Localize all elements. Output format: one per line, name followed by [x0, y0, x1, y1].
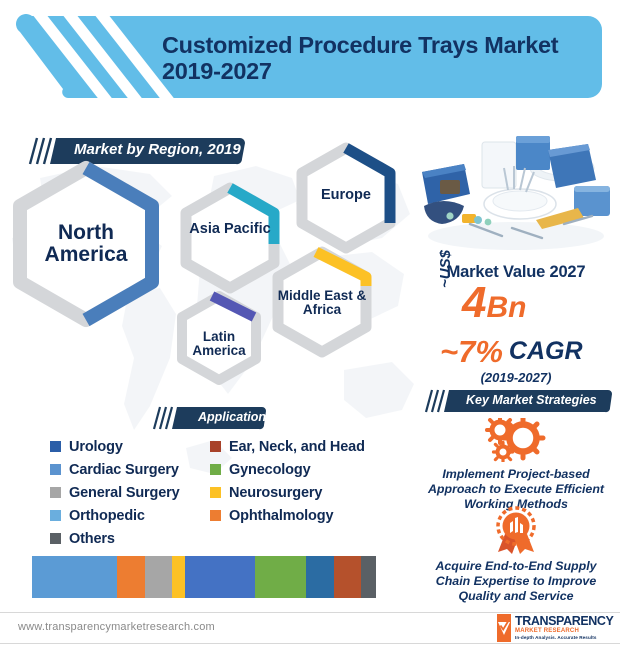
- footer-divider-top: [0, 612, 620, 613]
- bar-segment-general-surgery: [145, 556, 171, 598]
- legend-item: Neurosurgery: [210, 481, 365, 504]
- strategy-item-1: Implement Project-based Approach to Exec…: [416, 418, 616, 512]
- key-market-strategies-ribbon: Key Market Strategies: [424, 388, 616, 412]
- cagr-period: (2019-2027): [416, 370, 616, 385]
- logo-line-1: TRANSPARENCY: [515, 615, 613, 628]
- legend-label-cardiac-surgery: Cardiac Surgery: [69, 462, 179, 478]
- hex-north-america: [20, 168, 152, 320]
- application-ribbon-label: Application: [182, 405, 280, 429]
- application-ribbon: Application: [152, 405, 270, 429]
- market-value-currency: ~US$: [437, 250, 454, 288]
- page-title-line1: Customized Procedure Trays Market: [162, 32, 592, 58]
- footer-divider-bottom: [0, 643, 620, 644]
- legend-label-general-surgery: General Surgery: [69, 485, 180, 501]
- logo-line-3: In-depth Analysis. Accurate Results: [515, 635, 613, 641]
- legend-item: Ophthalmology: [210, 504, 365, 527]
- key-market-strategies-ribbon-label: Key Market Strategies: [450, 388, 611, 412]
- legend-item: Gynecology: [210, 458, 365, 481]
- legend-item: Cardiac Surgery: [50, 458, 180, 481]
- award-ribbon-icon: [489, 506, 543, 554]
- legend-swatch-others: [50, 533, 61, 544]
- legend-label-neurosurgery: Neurosurgery: [229, 485, 322, 501]
- hex-latin-america: [182, 296, 256, 380]
- header-banner: Customized Procedure Trays Market 2019-2…: [14, 10, 606, 107]
- bar-segment-others: [361, 556, 376, 598]
- legend-swatch-general-surgery: [50, 487, 61, 498]
- legend-item: Urology: [50, 435, 180, 458]
- legend-swatch-orthopedic: [50, 510, 61, 521]
- cagr-label: CAGR: [509, 339, 583, 364]
- cagr-value: ~7%: [440, 336, 503, 367]
- procedure-trays-photo: [416, 128, 616, 256]
- bar-segment-orthopedic: [32, 556, 117, 598]
- legend-swatch-ophthalmology: [210, 510, 221, 521]
- legend-swatch-gynecology: [210, 464, 221, 475]
- market-value-number: 4: [462, 278, 486, 327]
- legend-label-gynecology: Gynecology: [229, 462, 311, 478]
- transparency-market-research-logo[interactable]: TRANSPARENCY MARKET RESEARCH In-depth An…: [497, 614, 607, 642]
- bar-segment-ear-neck-head: [334, 556, 360, 598]
- legend-item: Ear, Neck, and Head: [210, 435, 365, 458]
- footer-url[interactable]: www.transparencymarketresearch.com: [18, 621, 215, 633]
- check-tick-icon: [497, 614, 511, 642]
- cagr-row: ~7%CAGR: [440, 336, 616, 367]
- bar-segment-cardiac-surgery: [306, 556, 334, 598]
- bar-segment-gynecology: [255, 556, 306, 598]
- application-legend-column-left: Urology Cardiac Surgery General Surgery …: [50, 435, 180, 550]
- legend-label-ear-neck-head: Ear, Neck, and Head: [229, 439, 365, 455]
- application-legend-column-right: Ear, Neck, and Head Gynecology Neurosurg…: [210, 435, 365, 527]
- logo-line-2: MARKET RESEARCH: [515, 627, 613, 635]
- application-stacked-bar: [32, 556, 410, 598]
- market-value-amount: 4Bn: [462, 281, 526, 330]
- logo-text-block: TRANSPARENCY MARKET RESEARCH In-depth An…: [511, 614, 613, 642]
- page-title-line2: 2019-2027: [162, 58, 592, 84]
- hex-asia-pacific: [186, 188, 274, 288]
- page-title: Customized Procedure Trays Market 2019-2…: [162, 32, 592, 84]
- legend-item: Others: [50, 527, 180, 550]
- legend-label-orthopedic: Orthopedic: [69, 508, 145, 524]
- legend-item: Orthopedic: [50, 504, 180, 527]
- bar-segment-urology: [185, 556, 255, 598]
- legend-item: General Surgery: [50, 481, 180, 504]
- legend-label-urology: Urology: [69, 439, 123, 455]
- legend-label-ophthalmology: Ophthalmology: [229, 508, 333, 524]
- bar-segment-ophthalmology: [117, 556, 145, 598]
- hex-europe: [302, 148, 390, 248]
- legend-swatch-ear-neck-head: [210, 441, 221, 452]
- legend-swatch-neurosurgery: [210, 487, 221, 498]
- bar-segment-neurosurgery: [172, 556, 185, 598]
- legend-swatch-cardiac-surgery: [50, 464, 61, 475]
- hex-middle-east-africa: [278, 252, 366, 352]
- market-value-unit: Bn: [486, 291, 526, 324]
- strategy-item-2: Acquire End-to-End Supply Chain Expertis…: [416, 506, 616, 604]
- gears-icon: [485, 418, 547, 462]
- region-hex-map: North America Asia Pacific Europe Latin …: [4, 140, 416, 388]
- legend-swatch-urology: [50, 441, 61, 452]
- infographic-canvas: Customized Procedure Trays Market 2019-2…: [0, 0, 620, 647]
- strategy-text-2: Acquire End-to-End Supply Chain Expertis…: [416, 559, 616, 604]
- legend-label-others: Others: [69, 531, 115, 547]
